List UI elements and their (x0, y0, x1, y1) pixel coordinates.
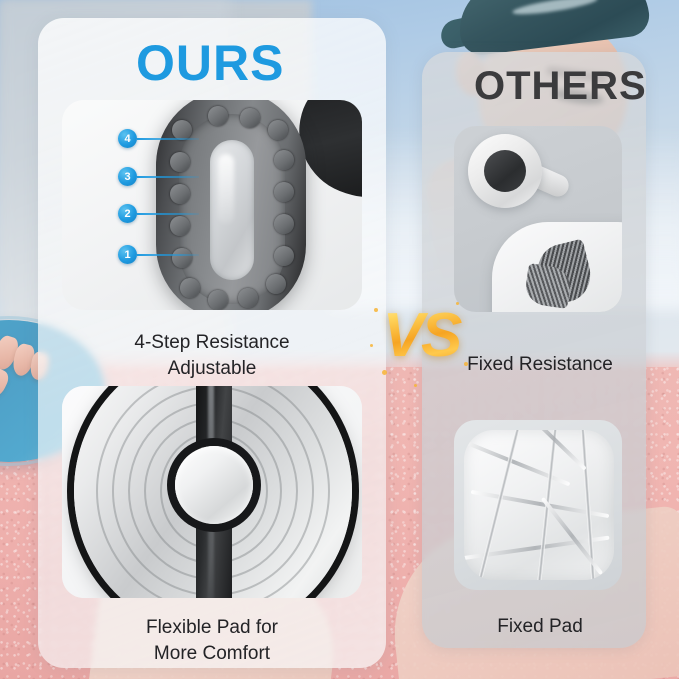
callout-step-2: 2 (118, 204, 199, 223)
gear-tooth (274, 150, 294, 170)
versus-badge: VS (368, 296, 474, 392)
product-comparison-graphic: OURS 4 3 2 1 (0, 0, 679, 679)
gear-tooth (238, 288, 258, 308)
callout-leader-line (137, 213, 199, 215)
callout-badge: 1 (118, 245, 137, 264)
ours-pad-caption: Flexible Pad for More Comfort (62, 615, 362, 667)
gear-tooth (268, 120, 288, 140)
gear-tooth (274, 246, 294, 266)
versus-label: VS (368, 300, 474, 371)
callout-leader-line (137, 138, 199, 140)
callout-leader-line (137, 254, 199, 256)
spark-particle (414, 384, 417, 387)
gear-tooth (274, 182, 294, 202)
callout-step-1: 1 (118, 245, 199, 264)
callout-leader-line (137, 176, 199, 178)
ours-pad-photo (62, 386, 362, 598)
ours-resistance-photo (62, 100, 362, 310)
others-heading: OTHERS (474, 64, 647, 109)
ours-heading: OURS (136, 34, 284, 92)
gear-tooth (208, 106, 228, 126)
fixed-knob-core (484, 150, 526, 192)
ours-resistance-caption: 4-Step Resistance Adjustable (62, 330, 362, 382)
gear-tooth (208, 290, 228, 310)
gear-tooth (274, 214, 294, 234)
gear-tooth (240, 108, 260, 128)
others-resistance-photo (454, 126, 622, 312)
callout-step-4: 4 (118, 129, 199, 148)
fixed-pad-surface (464, 430, 614, 580)
pad-hub (175, 446, 253, 524)
callout-step-3: 3 (118, 167, 199, 186)
knob-highlight (218, 154, 234, 224)
callout-badge: 2 (118, 204, 137, 223)
gear-tooth (170, 184, 190, 204)
gear-tooth (266, 274, 286, 294)
callout-badge: 4 (118, 129, 137, 148)
callout-badge: 3 (118, 167, 137, 186)
gear-tooth (180, 278, 200, 298)
others-pad-caption: Fixed Pad (440, 614, 640, 640)
others-pad-photo (454, 420, 622, 590)
